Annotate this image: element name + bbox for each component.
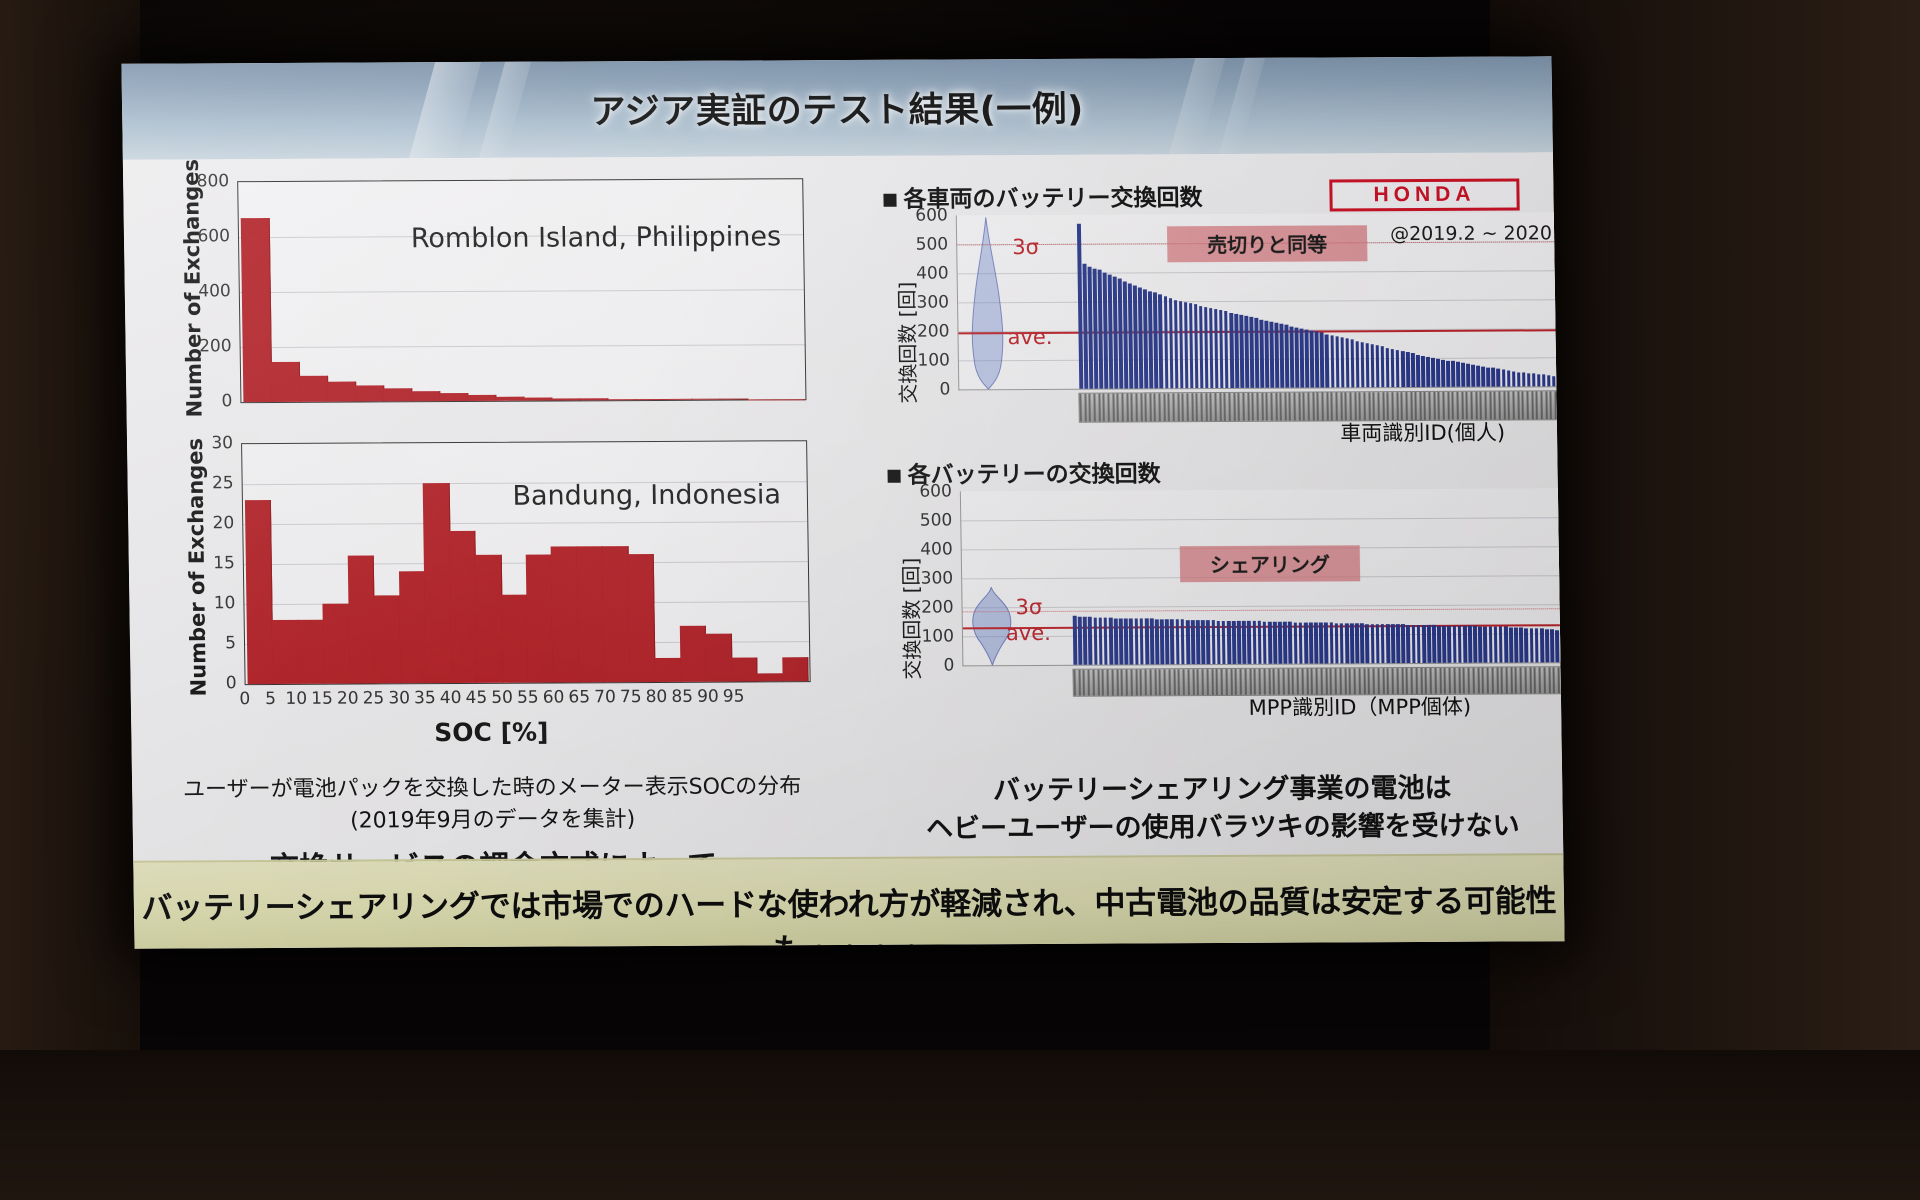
id-tick — [1484, 392, 1486, 420]
bar — [1447, 626, 1451, 663]
battery-id-label: MPP識別ID（MPP個体) — [1248, 691, 1471, 722]
bar — [1376, 624, 1380, 663]
bar — [1504, 627, 1508, 663]
bar — [374, 595, 402, 683]
id-tick — [1187, 669, 1189, 695]
id-tick — [1548, 667, 1550, 693]
id-tick — [1210, 393, 1212, 421]
bar — [1522, 373, 1526, 387]
presentation-slide: アジア実証のテスト結果(一例) HONDA The Power of Dream… — [121, 56, 1564, 948]
chart-bandung-bars — [244, 441, 808, 684]
bar — [1170, 619, 1174, 664]
bar — [1206, 620, 1210, 664]
id-tick — [1354, 392, 1356, 420]
bar — [1411, 353, 1415, 387]
bar — [1239, 315, 1244, 388]
bar — [655, 658, 682, 682]
bar — [1334, 623, 1338, 663]
bar — [1355, 624, 1359, 664]
bar — [1386, 624, 1390, 663]
bar — [1401, 624, 1405, 663]
bar — [1180, 620, 1184, 665]
id-tick — [1466, 392, 1468, 420]
bar — [551, 398, 580, 401]
bar — [1186, 620, 1190, 664]
bar — [1129, 618, 1133, 664]
bar — [1370, 624, 1374, 663]
bar — [1252, 621, 1256, 664]
left-wall — [0, 0, 140, 1200]
id-tick — [1349, 392, 1351, 420]
bar — [1381, 347, 1385, 388]
bar — [1547, 375, 1551, 386]
id-tick — [1074, 670, 1076, 696]
id-tick — [1224, 393, 1226, 421]
bar — [1463, 626, 1467, 663]
bar — [439, 393, 468, 401]
bar — [1481, 366, 1485, 386]
bar — [1109, 618, 1113, 665]
bar — [1305, 330, 1309, 388]
bar — [1524, 628, 1528, 663]
id-tick — [1149, 393, 1151, 421]
bar — [1537, 374, 1541, 386]
bar — [757, 673, 784, 681]
bar — [1179, 301, 1184, 388]
id-tick — [1242, 393, 1244, 421]
xtick: 30 — [386, 688, 412, 708]
bar — [607, 399, 636, 401]
bar — [680, 626, 707, 682]
xtick: 5 — [258, 689, 284, 709]
bar — [1234, 314, 1239, 388]
bar — [1330, 335, 1334, 387]
id-tick — [1092, 670, 1094, 696]
id-tick — [1149, 669, 1151, 695]
id-tick — [1183, 669, 1185, 695]
bar — [1134, 619, 1138, 665]
bar — [1263, 621, 1267, 663]
bar — [1219, 310, 1224, 388]
projection-screen: アジア実証のテスト結果(一例) HONDA The Power of Dream… — [121, 56, 1564, 948]
id-tick — [1121, 394, 1123, 422]
bar — [1427, 625, 1431, 663]
bar — [579, 398, 608, 400]
bar — [1335, 336, 1339, 387]
ytick: 300 — [911, 292, 949, 312]
xtick: 0 — [232, 689, 258, 709]
left-caption-line-1: ユーザーが電池パックを交換した時のメーター表示SOCの分布 — [132, 772, 852, 805]
id-tick — [1382, 392, 1384, 420]
id-tick — [1475, 392, 1477, 420]
id-tick — [1240, 669, 1242, 695]
ytick: 800 — [183, 171, 229, 191]
bar — [1391, 624, 1395, 663]
bar — [1514, 627, 1518, 662]
bar — [663, 399, 692, 400]
id-tick — [1117, 394, 1119, 422]
id-tick — [1501, 668, 1503, 694]
bar — [1119, 618, 1123, 664]
id-tick — [1472, 668, 1474, 694]
bar — [1247, 621, 1251, 664]
ytick: 300 — [915, 568, 953, 588]
bar — [1174, 300, 1179, 388]
bar — [241, 218, 273, 402]
id-tick — [1088, 670, 1090, 696]
bar — [1209, 308, 1214, 388]
bar — [1545, 629, 1549, 662]
id-tick — [1083, 670, 1085, 696]
bar — [1555, 630, 1559, 662]
id-tick — [1308, 393, 1310, 421]
chart-bandung-plot: Bandung, Indonesia — [241, 440, 811, 685]
id-tick — [1211, 669, 1213, 695]
bar — [1269, 322, 1274, 388]
average-label: ave. — [1006, 621, 1051, 645]
bar — [1552, 376, 1556, 386]
id-tick — [1126, 394, 1128, 422]
id-tick — [1238, 393, 1240, 421]
id-tick — [1553, 667, 1555, 693]
id-tick — [1247, 393, 1249, 421]
slide-title: アジア実証のテスト結果(一例) — [122, 78, 1553, 136]
id-tick — [1550, 391, 1552, 419]
bar — [1293, 622, 1297, 663]
chart-romblon: Number of Exchanges 800 600 400 200 0 Ro… — [163, 176, 807, 419]
id-tick — [1321, 392, 1323, 420]
bar — [1509, 627, 1513, 662]
id-tick — [1191, 393, 1193, 421]
id-tick — [1145, 669, 1147, 695]
bar — [1211, 620, 1215, 664]
bar — [1486, 367, 1490, 386]
id-tick — [1558, 667, 1560, 693]
bar — [1191, 620, 1195, 664]
id-tick — [1487, 668, 1489, 694]
xtick: 95 — [721, 686, 747, 706]
ytick: 200 — [911, 321, 949, 341]
xtick: 65 — [566, 687, 592, 707]
bar — [1527, 373, 1531, 386]
date-range-stamp: @2019.2 ~ 2020.5 — [1390, 222, 1565, 245]
ytick: 200 — [915, 597, 953, 617]
bar — [411, 391, 440, 402]
id-tick — [1526, 391, 1528, 419]
id-tick — [1359, 392, 1361, 420]
ytick: 20 — [196, 513, 234, 533]
id-tick — [1206, 669, 1208, 695]
bar — [501, 595, 529, 683]
xtick: 85 — [669, 687, 695, 707]
id-tick — [1298, 393, 1300, 421]
id-tick — [1373, 392, 1375, 420]
sigma3-label: 3σ — [1015, 595, 1042, 619]
bar — [1483, 626, 1487, 662]
bar — [1492, 368, 1496, 387]
id-tick — [1111, 670, 1113, 696]
bar — [1139, 619, 1143, 665]
bar — [1396, 350, 1400, 387]
bar — [1507, 371, 1511, 387]
slide-body: HONDA The Power of Dreams Number of Exch… — [123, 152, 1563, 862]
ytick: 0 — [916, 655, 954, 675]
id-tick — [1214, 393, 1216, 421]
id-tick — [1443, 392, 1445, 420]
ytick: 400 — [185, 281, 231, 301]
bar — [1432, 625, 1436, 663]
ytick: 600 — [184, 226, 230, 246]
bar — [1396, 625, 1400, 664]
id-tick — [1447, 392, 1449, 420]
id-tick — [1340, 392, 1342, 420]
ytick: 200 — [185, 336, 231, 356]
id-tick — [1543, 667, 1545, 693]
xtick: 20 — [335, 689, 361, 709]
bar — [1391, 349, 1395, 387]
bar — [1345, 339, 1349, 388]
id-tick — [1496, 668, 1498, 694]
ytick: 500 — [914, 510, 952, 530]
id-tick — [1545, 391, 1547, 419]
id-tick — [1116, 670, 1118, 696]
id-tick — [1197, 669, 1199, 695]
bar — [1431, 358, 1435, 387]
bar — [299, 376, 328, 402]
id-tick — [1266, 393, 1268, 421]
id-tick — [1202, 669, 1204, 695]
ytick: 500 — [910, 234, 948, 254]
bar — [1189, 304, 1194, 389]
id-tick — [1216, 669, 1218, 695]
bar — [1442, 625, 1446, 662]
bar — [1340, 623, 1344, 663]
bar — [523, 397, 552, 400]
id-tick — [1275, 393, 1277, 421]
ytick: 5 — [198, 633, 236, 653]
bar — [1365, 624, 1369, 663]
bar — [1499, 627, 1503, 663]
id-tick — [1103, 394, 1105, 422]
chart-romblon-bars — [240, 179, 803, 402]
bar — [1237, 621, 1241, 664]
slide-header: アジア実証のテスト結果(一例) — [121, 56, 1552, 159]
bar — [1406, 352, 1410, 387]
id-tick — [1470, 392, 1472, 420]
chart-vehicle-exchanges: 交換回数 [回] 600 500 400 300 200 100 0 — [884, 210, 1565, 444]
id-tick — [1135, 669, 1137, 695]
bar — [271, 362, 301, 402]
bar — [1411, 625, 1415, 663]
bar — [1502, 370, 1506, 387]
id-tick — [1335, 392, 1337, 420]
id-tick — [1205, 393, 1207, 421]
id-tick — [1126, 670, 1128, 696]
left-caption-line-2: (2019年9月のデータを集計) — [132, 804, 852, 837]
id-tick — [1173, 669, 1175, 695]
bar — [1257, 621, 1261, 664]
bar — [1155, 619, 1159, 664]
id-tick — [1345, 392, 1347, 420]
bar — [1468, 626, 1472, 663]
ytick: 10 — [197, 593, 235, 613]
average-label: ave. — [1007, 325, 1052, 349]
bar — [348, 555, 376, 683]
id-tick — [1097, 670, 1099, 696]
id-tick — [1196, 393, 1198, 421]
bar — [1350, 340, 1354, 388]
ytick: 600 — [914, 481, 952, 501]
bar — [1365, 343, 1369, 387]
bar — [1083, 617, 1087, 665]
xtick: 60 — [541, 687, 567, 707]
bar — [1175, 620, 1179, 665]
bar — [1098, 618, 1102, 665]
bar — [1201, 620, 1205, 664]
id-tick — [1140, 669, 1142, 695]
id-tick — [1079, 394, 1081, 422]
bar — [1249, 317, 1254, 388]
id-tick — [1192, 669, 1194, 695]
bar — [1370, 344, 1374, 387]
bar — [1077, 223, 1083, 388]
chart-bandung-xticks: 05101520253035404550556065707580859095 — [245, 686, 811, 713]
xtick: 35 — [412, 688, 438, 708]
id-tick — [1107, 394, 1109, 422]
id-tick — [1363, 392, 1365, 420]
bar — [1360, 342, 1364, 387]
xtick: 45 — [463, 688, 489, 708]
bar — [691, 399, 720, 400]
id-tick — [1163, 393, 1165, 421]
bar — [1416, 355, 1420, 387]
bar — [1540, 629, 1544, 663]
bar — [1299, 622, 1303, 663]
bar — [1315, 332, 1319, 388]
right-conclusion-line-1: バッテリーシェアリング事業の電池は — [872, 770, 1565, 810]
ytick: 15 — [197, 553, 235, 573]
id-tick — [1540, 391, 1542, 419]
id-tick — [1401, 392, 1403, 420]
bar — [1273, 622, 1277, 664]
id-tick — [1424, 392, 1426, 420]
bar — [1426, 357, 1430, 387]
bar — [327, 382, 356, 402]
bar — [1224, 311, 1229, 388]
ytick: 100 — [916, 626, 954, 646]
bar — [1214, 309, 1219, 388]
bar — [1456, 362, 1460, 387]
bar — [1441, 360, 1445, 387]
bar — [1512, 371, 1516, 386]
bar — [1150, 619, 1154, 665]
ytick: 600 — [910, 205, 948, 225]
ytick: 0 — [186, 391, 232, 411]
bar — [1422, 625, 1426, 663]
bar — [1304, 622, 1308, 663]
xtick: 40 — [438, 688, 464, 708]
bar — [1466, 364, 1470, 387]
id-tick — [1498, 392, 1500, 420]
bar — [399, 571, 427, 683]
id-tick — [1219, 393, 1221, 421]
id-tick — [1508, 392, 1510, 420]
bar — [1421, 356, 1425, 387]
bar — [449, 531, 478, 683]
id-tick — [1477, 668, 1479, 694]
right-conclusion-line-2: ヘビーユーザーの使用バラツキの影響を受けない — [873, 808, 1565, 848]
xtick: 10 — [283, 689, 309, 709]
ytick: 400 — [915, 539, 953, 559]
id-tick — [1228, 393, 1230, 421]
bar — [1124, 618, 1128, 664]
id-tick — [1230, 669, 1232, 695]
id-tick — [1159, 669, 1161, 695]
bar — [1345, 623, 1349, 663]
bar — [1488, 627, 1492, 663]
vehicle-id-label: 車両識別ID(個人) — [1340, 417, 1505, 448]
bar — [1320, 333, 1324, 388]
bar — [1453, 626, 1457, 663]
id-tick — [1200, 393, 1202, 421]
floor — [0, 1050, 1920, 1200]
honda-wordmark: HONDA — [1329, 178, 1519, 211]
bar — [628, 554, 656, 682]
id-tick — [1154, 393, 1156, 421]
bar — [1340, 338, 1344, 388]
right-section1-title-text: 各車両のバッテリー交換回数 — [903, 185, 1202, 213]
footer-banner: バッテリーシェアリングでは市場でのハードな使われ方が軽減され、中古電池の品質は安… — [133, 853, 1564, 948]
bar — [495, 396, 524, 401]
bar — [1476, 366, 1480, 387]
bar — [1290, 326, 1295, 387]
id-tick — [1452, 392, 1454, 420]
bar — [1165, 619, 1169, 664]
bar — [1104, 618, 1108, 665]
id-tick — [1491, 668, 1493, 694]
bar — [1163, 296, 1168, 388]
bar — [1278, 622, 1282, 664]
id-tick — [1186, 393, 1188, 421]
ytick: 400 — [910, 263, 948, 283]
bar — [1300, 328, 1304, 387]
xtick: 25 — [360, 688, 386, 708]
id-tick — [1107, 670, 1109, 696]
bar — [782, 657, 809, 681]
id-tick — [1078, 670, 1080, 696]
id-tick — [1529, 667, 1531, 693]
bar — [383, 389, 412, 402]
id-tick — [1517, 391, 1519, 419]
id-tick — [1244, 669, 1246, 695]
bar — [1285, 325, 1290, 388]
id-tick — [1154, 669, 1156, 695]
id-tick — [1177, 393, 1179, 421]
bar — [526, 555, 554, 683]
ytick: 30 — [195, 433, 233, 453]
bar — [1406, 625, 1410, 663]
id-tick — [1429, 392, 1431, 420]
bar — [1446, 360, 1450, 386]
bar — [1254, 318, 1259, 388]
xtick: 50 — [489, 688, 515, 708]
footer-banner-text: バッテリーシェアリングでは市場でのハードな使われ方が軽減され、中古電池の品質は安… — [134, 875, 1565, 948]
id-tick — [1396, 392, 1398, 420]
chart-battery-exchanges: 交換回数 [回] 600 500 400 300 200 100 0 — [888, 486, 1565, 720]
bar — [1295, 327, 1300, 387]
id-tick — [1130, 669, 1132, 695]
id-tick — [1221, 669, 1223, 695]
